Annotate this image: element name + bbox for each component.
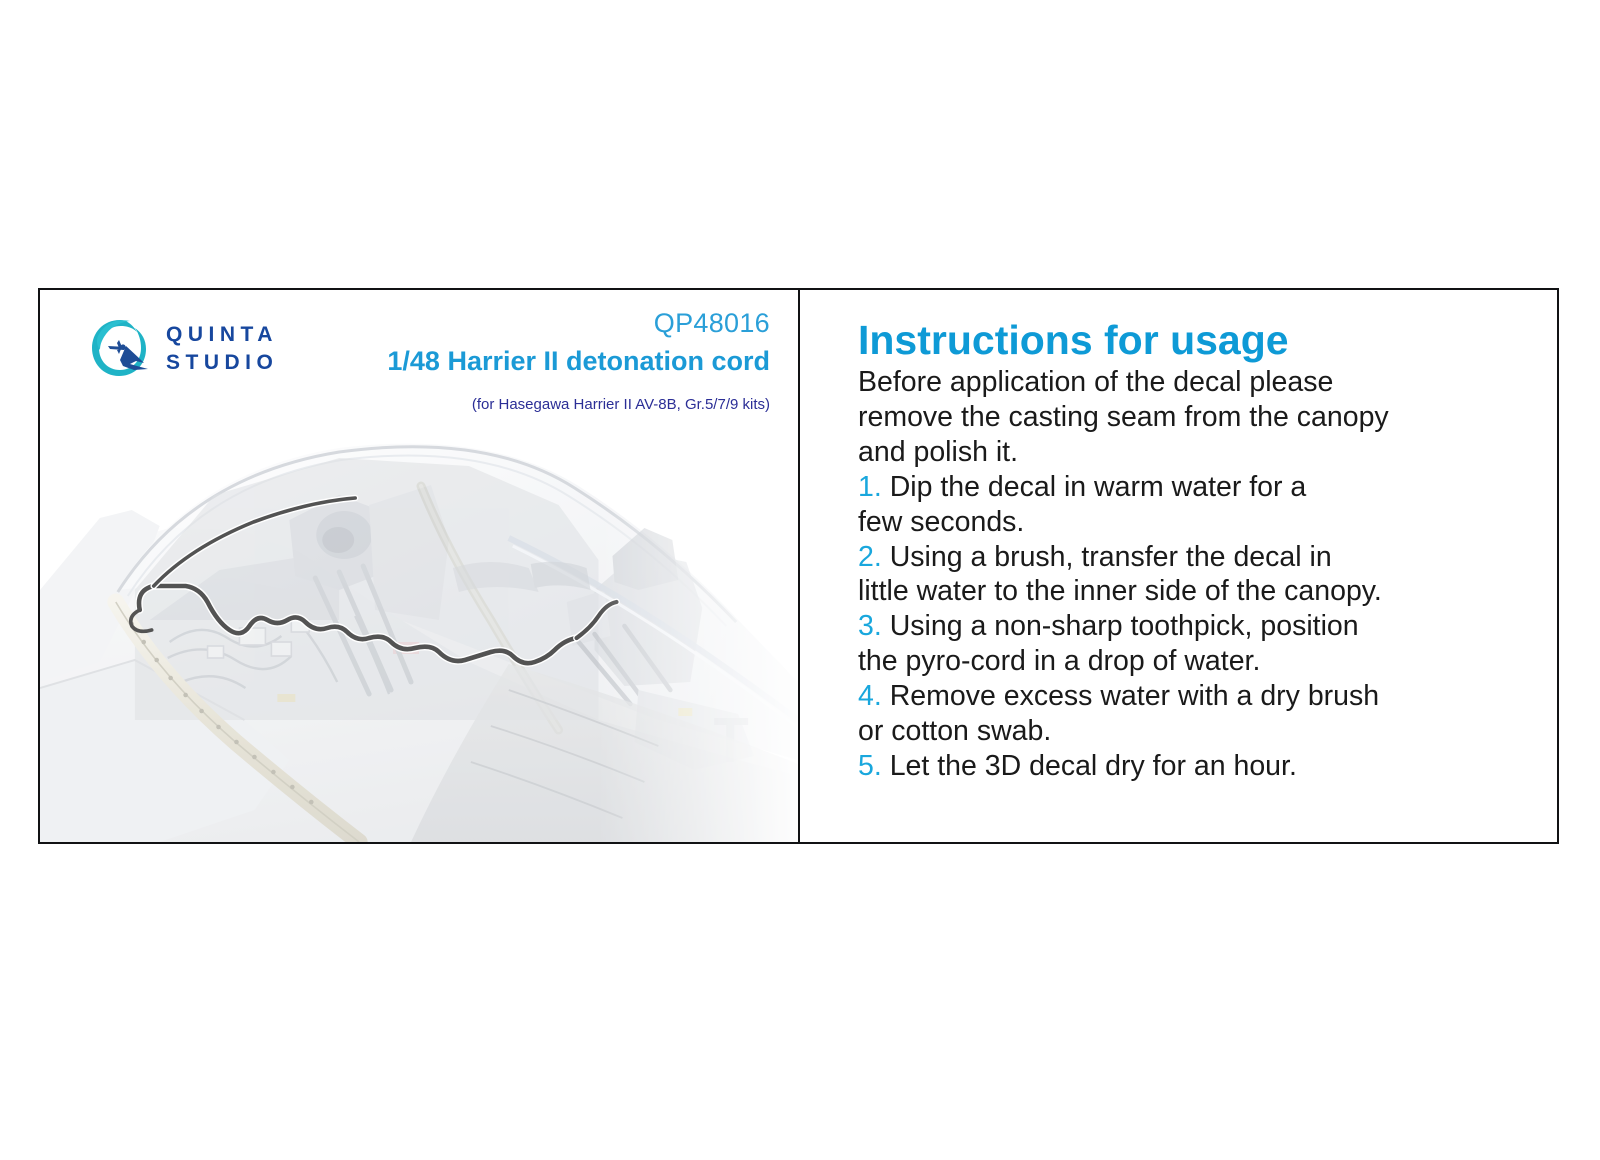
instruction-step-line: 2. Using a brush, transfer the decal in: [858, 540, 1533, 575]
instruction-step-continuation: the pyro-cord in a drop of water.: [858, 644, 1533, 679]
instruction-step-line: 5. Let the 3D decal dry for an hour.: [858, 749, 1533, 784]
instruction-step-continuation: or cotton swab.: [858, 714, 1533, 749]
product-code: QP48016: [387, 308, 770, 339]
instructions-body: Before application of the decal pleasere…: [858, 365, 1533, 784]
instruction-step-line: 4. Remove excess water with a dry brush: [858, 679, 1533, 714]
brand-line-studio: STUDIO: [166, 352, 278, 373]
instruction-step-line: 1. Dip the decal in warm water for a: [858, 470, 1533, 505]
brand-line-quinta: QUINTA: [166, 324, 278, 345]
product-title-block: QP48016 1/48 Harrier II detonation cord …: [387, 308, 770, 413]
step-number: 5.: [858, 750, 890, 782]
quinta-swoosh-aircraft-logo-icon: [90, 316, 152, 380]
instructions-panel: Instructions for usage Before applicatio…: [800, 290, 1557, 842]
instruction-sheet-frame: QUINTA STUDIO QP48016 1/48 Harrier II de…: [38, 288, 1559, 844]
instruction-step-continuation: little water to the inner side of the ca…: [858, 574, 1533, 609]
instruction-step-line: 3. Using a non-sharp toothpick, position: [858, 609, 1533, 644]
step-number: 2.: [858, 541, 890, 573]
instructions-heading: Instructions for usage: [858, 320, 1533, 361]
product-photo-panel: QUINTA STUDIO QP48016 1/48 Harrier II de…: [40, 290, 800, 842]
page-title: 1/48 Harrier II detonation cord: [387, 344, 770, 379]
instruction-intro-line: remove the casting seam from the canopy: [858, 400, 1533, 435]
instruction-step-continuation: few seconds.: [858, 505, 1533, 540]
quinta-studio-logo: QUINTA STUDIO: [90, 306, 360, 390]
instruction-sheet-page: QUINTA STUDIO QP48016 1/48 Harrier II de…: [0, 0, 1600, 1160]
instruction-intro-line: Before application of the decal please: [858, 365, 1533, 400]
instruction-intro-line: and polish it.: [858, 435, 1533, 470]
step-number: 4.: [858, 680, 890, 712]
compatible-kits-note: (for Hasegawa Harrier II AV-8B, Gr.5/7/9…: [387, 396, 770, 413]
brand-wordmark: QUINTA STUDIO: [166, 324, 278, 373]
step-number: 3.: [858, 610, 890, 642]
step-number: 1.: [858, 471, 890, 503]
